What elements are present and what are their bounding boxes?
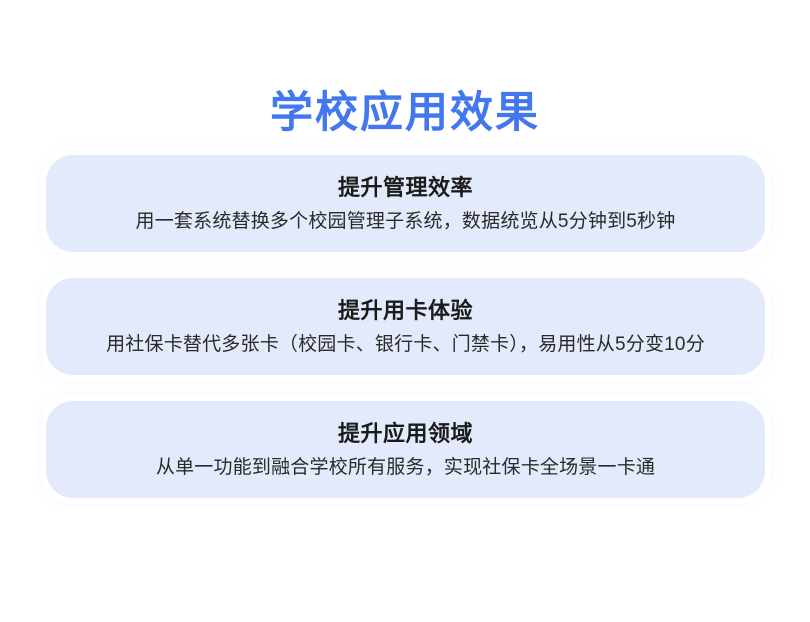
benefit-card-description: 用一套系统替换多个校园管理子系统，数据统览从5分钟到5秒钟 [136,208,676,235]
benefit-card-heading: 提升用卡体验 [338,296,473,326]
benefit-card-list: 提升管理效率 用一套系统替换多个校园管理子系统，数据统览从5分钟到5秒钟 提升用… [46,155,765,498]
benefit-card-description: 从单一功能到融合学校所有服务，实现社保卡全场景一卡通 [156,454,655,481]
page-title: 学校应用效果 [270,87,540,139]
poster-root: 学校应用效果 提升管理效率 用一套系统替换多个校园管理子系统，数据统览从5分钟到… [0,0,810,622]
benefit-card-heading: 提升管理效率 [338,173,473,203]
benefit-card-heading: 提升应用领域 [338,419,473,449]
benefit-card: 提升用卡体验 用社保卡替代多张卡（校园卡、银行卡、门禁卡），易用性从5分变10分 [46,278,765,375]
benefit-card-description: 用社保卡替代多张卡（校园卡、银行卡、门禁卡），易用性从5分变10分 [106,331,705,358]
benefit-card: 提升应用领域 从单一功能到融合学校所有服务，实现社保卡全场景一卡通 [46,401,765,498]
benefit-card: 提升管理效率 用一套系统替换多个校园管理子系统，数据统览从5分钟到5秒钟 [46,155,765,252]
page-title-block: 学校应用效果 [0,58,810,168]
